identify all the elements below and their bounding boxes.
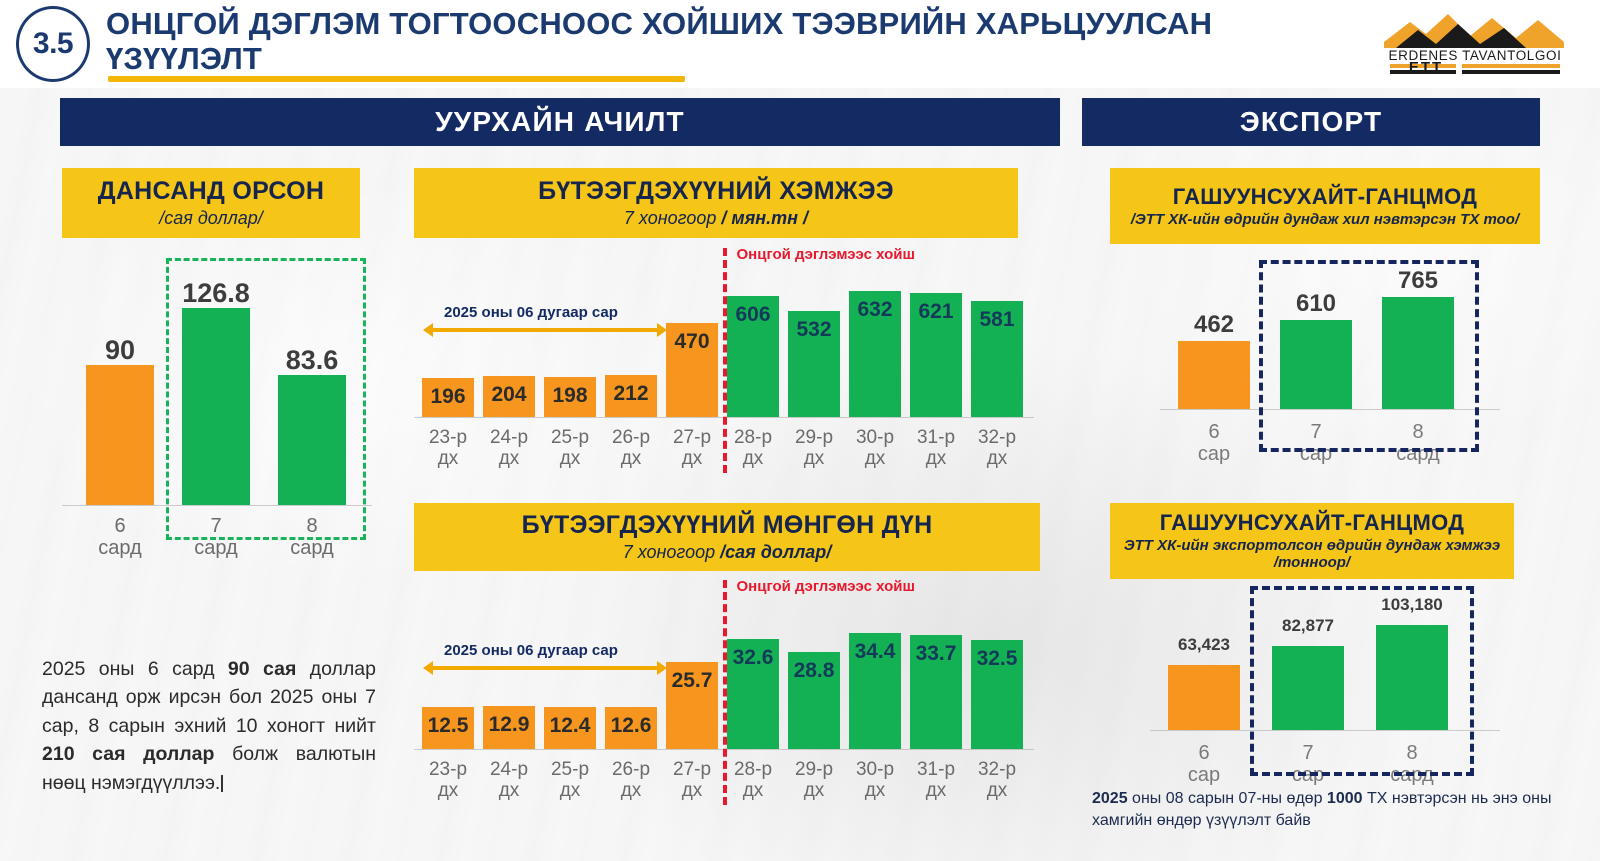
x-tick-label: 23-рдх xyxy=(422,427,474,470)
x-tick-label: 28-рдх xyxy=(727,427,779,470)
bar-27-р-дх: 470 xyxy=(666,323,718,417)
bar-column: 12.9 xyxy=(483,706,535,749)
bar-value-label: 581 xyxy=(979,308,1014,332)
panel-subtitle-plain: 7 хоногоор xyxy=(623,542,720,562)
panel-title: ГАШУУНСУХАЙТ-ГАНЦМОД xyxy=(1173,184,1478,210)
bar-column: 606 xyxy=(727,296,779,417)
bar-value-label: 632 xyxy=(857,298,892,322)
chart-mongon: 12.523-рдх12.924-рдх12.425-рдх12.626-рдх… xyxy=(414,600,1034,800)
bar-value-label: 606 xyxy=(735,303,770,327)
bar-column: 25.7 xyxy=(666,662,718,749)
panel-header-mongon: БҮТЭЭГДЭХҮҮНИЙ МӨНГӨН ДҮН 7 хоногоор /са… xyxy=(414,503,1040,571)
x-tick-label: 25-рдх xyxy=(544,759,596,802)
x-tick-label: 7сард xyxy=(182,515,250,560)
bar-value-label: 198 xyxy=(552,384,587,408)
bar-column: 581 xyxy=(971,301,1023,417)
bar-column: 12.5 xyxy=(422,707,474,749)
bar-32-р-дх: 581 xyxy=(971,301,1023,417)
bar-value-label: 196 xyxy=(430,385,465,409)
slide-root: 3.5 ОНЦГОЙ ДЭГЛЭМ ТОГТООСНООС ХОЙШИХ ТЭЭ… xyxy=(0,0,1600,861)
bar-value-label: 532 xyxy=(796,318,831,342)
month-range-arrow xyxy=(432,328,658,332)
bar-7-сард: 126.8 xyxy=(182,308,250,505)
x-tick-label: 29-рдх xyxy=(788,759,840,802)
bar-30-р-дх: 632 xyxy=(849,291,901,417)
note-right-part-1: оны 08 сарын 07-ны өдөр xyxy=(1128,790,1327,807)
title-underline xyxy=(108,76,685,82)
note-right-part-2: 1000 xyxy=(1327,790,1363,807)
panel-subtitle: 7 хоногоор / мян.тн / xyxy=(624,208,808,229)
bar-31-р-дх: 33.7 xyxy=(910,635,962,749)
note-right-part-0: 2025 xyxy=(1092,790,1128,807)
svg-text:ETT: ETT xyxy=(1409,59,1443,76)
x-tick-label: 30-рдх xyxy=(849,427,901,470)
bar-value-label: 63,423 xyxy=(1178,635,1230,655)
bar-8-сард: 83.6 xyxy=(278,375,346,505)
bar-column: 532 xyxy=(788,311,840,417)
special-regime-divider xyxy=(723,580,727,805)
x-tick-label: 26-рдх xyxy=(605,759,657,802)
bar-23-р-дх: 12.5 xyxy=(422,707,474,749)
bar-column: 196 xyxy=(422,378,474,417)
note-left-part-3: 210 сая доллар xyxy=(42,743,214,765)
x-tick-label: 24-рдх xyxy=(483,759,535,802)
month-range-arrow xyxy=(432,666,658,670)
x-tick-label: 31-рдх xyxy=(910,427,962,470)
bar-column: 90 xyxy=(86,365,154,505)
note-right: 2025 оны 08 сарын 07-ны өдөр 1000 ТХ нэв… xyxy=(1092,788,1562,831)
x-tick-label: 28-рдх xyxy=(727,759,779,802)
x-tick-label: 32-рдх xyxy=(971,427,1023,470)
bar-column: 34.4 xyxy=(849,633,901,749)
bar-value-label: 90 xyxy=(105,335,135,366)
chart-gashuunsuhait-tonn: 63,4236сар82,8777сар103,1808сард xyxy=(1150,590,1500,770)
bar-23-р-дх: 196 xyxy=(422,378,474,417)
bar-27-р-дх: 25.7 xyxy=(666,662,718,749)
bar-value-label: 212 xyxy=(613,382,648,406)
slide-number-badge: 3.5 xyxy=(16,6,90,82)
bar-column: 28.8 xyxy=(788,652,840,749)
x-tick-label: 27-рдх xyxy=(666,427,718,470)
bar-28-р-дх: 32.6 xyxy=(727,639,779,749)
x-tick-label: 29-рдх xyxy=(788,427,840,470)
x-tick-label: 24-рдх xyxy=(483,427,535,470)
x-tick-label: 23-рдх xyxy=(422,759,474,802)
panel-subtitle-plain: 7 хоногоор xyxy=(624,208,716,228)
bar-value-label: 83.6 xyxy=(286,345,339,376)
bar-column: 126.8 xyxy=(182,308,250,505)
bar-column: 32.6 xyxy=(727,639,779,749)
bar-value-label: 470 xyxy=(674,330,709,354)
panel-subtitle-bold: /сая доллар/ xyxy=(720,542,831,562)
bar-column: 32.5 xyxy=(971,640,1023,749)
bar-value-label: 126.8 xyxy=(182,278,250,309)
bar-25-р-дх: 198 xyxy=(544,377,596,417)
bar-value-label: 32.5 xyxy=(977,647,1018,671)
x-tick-label: 27-рдх xyxy=(666,759,718,802)
bar-column: 63,423 xyxy=(1168,665,1240,730)
panel-header-dansand: ДАНСАНД ОРСОН /сая доллар/ xyxy=(62,168,360,238)
section-header-mine: УУРХАЙН АЧИЛТ xyxy=(60,98,1060,146)
x-tick-label: 6сар xyxy=(1168,742,1240,787)
bar-30-р-дх: 34.4 xyxy=(849,633,901,749)
x-tick-label: 8сард xyxy=(278,515,346,560)
slide-header: 3.5 ОНЦГОЙ ДЭГЛЭМ ТОГТООСНООС ХОЙШИХ ТЭЭ… xyxy=(0,0,1600,88)
bar-25-р-дх: 12.4 xyxy=(544,707,596,749)
bar-24-р-дх: 204 xyxy=(483,376,535,417)
x-tick-label: 25-рдх xyxy=(544,427,596,470)
panel-title: ГАШУУНСУХАЙТ-ГАНЦМОД xyxy=(1160,510,1465,536)
panel-header-gashuunsuhait-tx: ГАШУУНСУХАЙТ-ГАНЦМОД /ЭТТ ХК-ийн өдрийн … xyxy=(1110,168,1540,244)
bar-26-р-дх: 12.6 xyxy=(605,707,657,749)
bar-column: 470 xyxy=(666,323,718,417)
x-tick-label: 6сард xyxy=(86,515,154,560)
note-left-part-1: 90 сая xyxy=(228,658,296,680)
ett-logo: ERDENES TAVANTOLGOI ETT xyxy=(1366,8,1584,78)
panel-subtitle: /ЭТТ ХК-ийн өдрийн дундаж хил нэвтэрсэн … xyxy=(1131,212,1519,229)
bar-value-label: 32.6 xyxy=(733,646,774,670)
since-special-regime-label: Онцгой дэглэмээс хойш xyxy=(737,578,915,595)
bar-column: 12.4 xyxy=(544,707,596,749)
bar-6-сар: 462 xyxy=(1178,341,1250,409)
x-tick-label: 32-рдх xyxy=(971,759,1023,802)
bar-value-label: 34.4 xyxy=(855,640,896,664)
bar-31-р-дх: 621 xyxy=(910,293,962,417)
bar-value-label: 33.7 xyxy=(916,642,957,666)
month-range-label: 2025 оны 06 дугаар сар xyxy=(444,642,618,659)
x-tick-label: 6сар xyxy=(1178,421,1250,466)
bar-29-р-дх: 28.8 xyxy=(788,652,840,749)
bar-value-label: 25.7 xyxy=(672,669,713,693)
bar-29-р-дх: 532 xyxy=(788,311,840,417)
x-tick-label: 26-рдх xyxy=(605,427,657,470)
note-left-part-0: 2025 оны 6 сард xyxy=(42,658,228,680)
month-range-label: 2025 оны 06 дугаар сар xyxy=(444,304,618,321)
bar-value-label: 12.4 xyxy=(550,714,591,738)
x-tick-label: 30-рдх xyxy=(849,759,901,802)
panel-title: БҮТЭЭГДЭХҮҮНИЙ МӨНГӨН ДҮН xyxy=(522,511,933,540)
panel-subtitle: 7 хоногоор /сая доллар/ xyxy=(623,542,832,563)
panel-subtitle: ЭТТ ХК-ийн экспортолсон өдрийн дундаж хэ… xyxy=(1120,538,1504,572)
bar-value-label: 12.5 xyxy=(428,714,469,738)
bar-value-label: 462 xyxy=(1194,311,1234,339)
bar-column: 198 xyxy=(544,377,596,417)
highlight-box-navy-dashed xyxy=(1250,586,1474,776)
bar-24-р-дх: 12.9 xyxy=(483,706,535,749)
bar-32-р-дх: 32.5 xyxy=(971,640,1023,749)
bar-value-label: 12.9 xyxy=(489,713,530,737)
since-special-regime-label: Онцгой дэглэмээс хойш xyxy=(737,246,915,263)
chart-dansand: 906сард126.87сард83.68сард xyxy=(62,250,372,540)
bar-column: 212 xyxy=(605,375,657,417)
bar-6-сард: 90 xyxy=(86,365,154,505)
bar-column: 204 xyxy=(483,376,535,417)
section-header-export: ЭКСПОРТ xyxy=(1082,98,1540,146)
bar-26-р-дх: 212 xyxy=(605,375,657,417)
panel-title: БҮТЭЭГДЭХҮҮНИЙ ХЭМЖЭЭ xyxy=(538,177,894,206)
x-tick-label: 31-рдх xyxy=(910,759,962,802)
bar-column: 83.6 xyxy=(278,375,346,505)
chart-hemjee: 19623-рдх20424-рдх19825-рдх21226-рдх4702… xyxy=(414,268,1034,468)
bar-column: 632 xyxy=(849,291,901,417)
panel-header-gashuunsuhait-tonn: ГАШУУНСУХАЙТ-ГАНЦМОД ЭТТ ХК-ийн экспорто… xyxy=(1110,503,1514,579)
panel-subtitle-bold: / мян.тн / xyxy=(721,208,808,228)
page-title: ОНЦГОЙ ДЭГЛЭМ ТОГТООСНООС ХОЙШИХ ТЭЭВРИЙ… xyxy=(106,7,1346,76)
bar-value-label: 204 xyxy=(491,383,526,407)
bar-6-сар: 63,423 xyxy=(1168,665,1240,730)
special-regime-divider xyxy=(723,248,727,473)
bar-column: 33.7 xyxy=(910,635,962,749)
chart-gashuunsuhait-tx: 4626сар6107сар7658сард xyxy=(1160,262,1500,452)
panel-title: ДАНСАНД ОРСОН xyxy=(98,177,325,206)
bar-value-label: 12.6 xyxy=(611,714,652,738)
panel-subtitle: /сая доллар/ xyxy=(159,208,263,229)
chart-baseline xyxy=(62,505,372,506)
note-left: 2025 оны 6 сард 90 сая доллар дансанд ор… xyxy=(42,655,376,797)
text-caret xyxy=(221,775,223,792)
bar-column: 12.6 xyxy=(605,707,657,749)
bar-column: 462 xyxy=(1178,341,1250,409)
panel-header-hemjee: БҮТЭЭГДЭХҮҮНИЙ ХЭМЖЭЭ 7 хоногоор / мян.т… xyxy=(414,168,1018,238)
bar-value-label: 621 xyxy=(918,300,953,324)
highlight-box-navy-dashed xyxy=(1259,260,1479,452)
bar-column: 621 xyxy=(910,293,962,417)
bar-value-label: 28.8 xyxy=(794,659,835,683)
bar-28-р-дх: 606 xyxy=(727,296,779,417)
